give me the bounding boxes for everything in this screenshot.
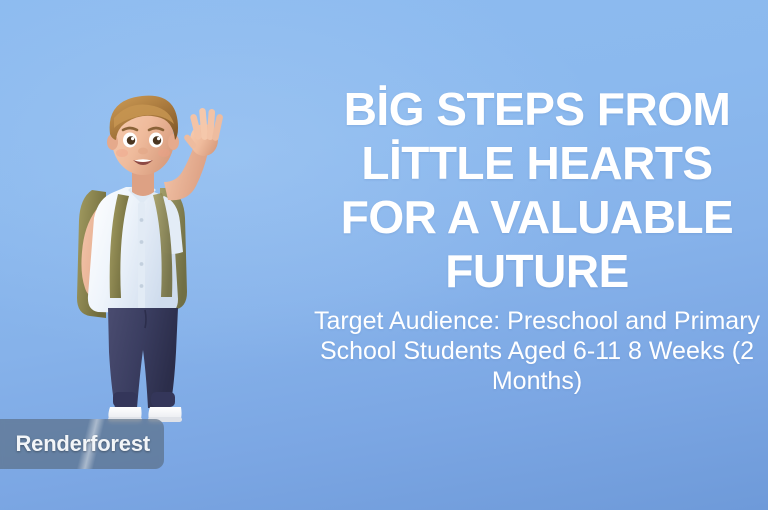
subtitle-text: Target Audience: Preschool and Primary S… [312,306,762,396]
pants [108,308,178,408]
head [107,96,179,175]
waving-schoolboy-illustration [52,62,242,427]
page-title: BİG STEPS FROM LİTTLE HEARTS FOR A VALUA… [312,82,762,298]
watermark-label: Renderforest [15,431,150,457]
video-slide-canvas: BİG STEPS FROM LİTTLE HEARTS FOR A VALUA… [0,0,768,510]
renderforest-watermark: Renderforest [0,419,164,469]
slide-text-block: BİG STEPS FROM LİTTLE HEARTS FOR A VALUA… [312,82,762,396]
waving-hand [183,108,224,156]
